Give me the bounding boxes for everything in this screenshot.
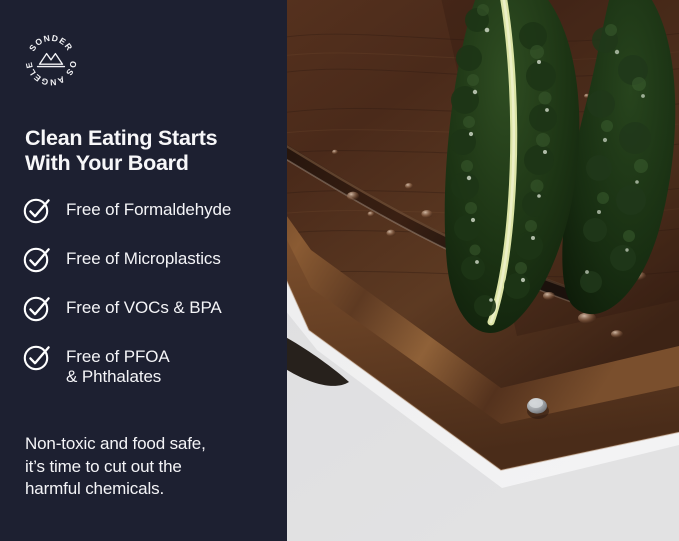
- list-item-label: Free of Microplastics: [66, 246, 221, 269]
- check-circle-icon: [22, 195, 52, 225]
- mountain-icon: [38, 54, 65, 67]
- headline-line-1: Clean Eating Starts: [25, 126, 275, 151]
- list-item: Free of VOCs & BPA: [22, 295, 280, 323]
- closing-note-line-2: it’s time to cut out the: [25, 456, 277, 479]
- page-title: Clean Eating Starts With Your Board: [25, 126, 275, 176]
- headline-line-2: With Your Board: [25, 151, 275, 176]
- promo-card: SONDER LOS ANGELES Clean Eating Starts W…: [0, 0, 679, 541]
- list-item-label-line-2: & Phthalates: [66, 367, 170, 387]
- list-item: Free of PFOA & Phthalates: [22, 344, 280, 387]
- closing-note-line-1: Non-toxic and food safe,: [25, 433, 277, 456]
- list-item: Free of Formaldehyde: [22, 197, 280, 225]
- check-circle-icon: [22, 342, 52, 372]
- check-circle-icon: [22, 244, 52, 274]
- list-item: Free of Microplastics: [22, 246, 280, 274]
- list-item-label: Free of Formaldehyde: [66, 197, 231, 220]
- info-panel: SONDER LOS ANGELES Clean Eating Starts W…: [0, 0, 287, 541]
- product-photo: [287, 0, 679, 541]
- benefits-checklist: Free of Formaldehyde Free of Microplasti…: [22, 197, 280, 387]
- list-item-label-line-1: Free of Formaldehyde: [66, 200, 231, 219]
- list-item-label: Free of VOCs & BPA: [66, 295, 222, 318]
- list-item-label: Free of PFOA & Phthalates: [66, 344, 170, 387]
- list-item-label-line-1: Free of Microplastics: [66, 249, 221, 268]
- brand-logo: SONDER LOS ANGELES: [21, 30, 81, 90]
- logo-arc-top-text: SONDER: [27, 33, 75, 53]
- check-circle-icon: [22, 293, 52, 323]
- list-item-label-line-1: Free of VOCs & BPA: [66, 298, 222, 317]
- closing-note-line-3: harmful chemicals.: [25, 478, 277, 501]
- closing-note: Non-toxic and food safe, it’s time to cu…: [25, 433, 277, 501]
- list-item-label-line-1: Free of PFOA: [66, 347, 170, 366]
